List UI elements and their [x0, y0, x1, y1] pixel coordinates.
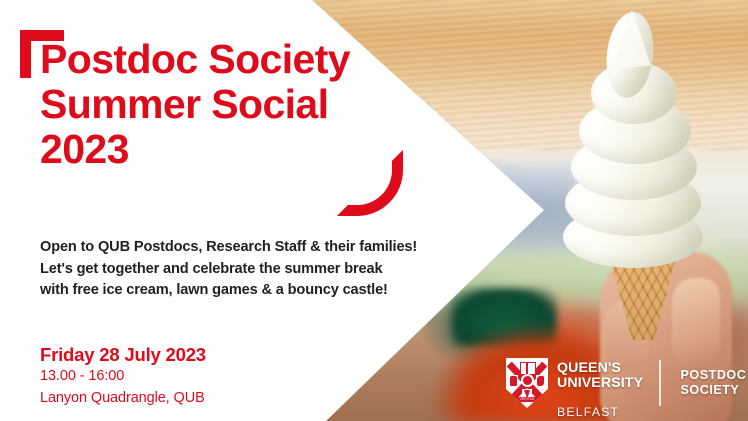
swoosh-arc-icon — [337, 150, 403, 216]
page-title: Postdoc Society Summer Social 2023 — [40, 37, 350, 172]
event-date: Friday 28 July 2023 — [40, 344, 206, 366]
crest-motto: VERITAS — [513, 397, 541, 402]
event-time: 13.00 - 16:00 — [40, 368, 124, 384]
event-description: Open to QUB Postdocs, Research Staff & t… — [40, 237, 417, 302]
event-location: Lanyon Quadrangle, QUB — [40, 390, 205, 406]
crest-red-hand-icon — [509, 375, 518, 387]
university-name: QUEEN'S UNIVERSITY — [557, 360, 643, 391]
society-wordmark: POSTDOC SOCIETY — [681, 368, 747, 398]
qub-crest-icon: VERITAS — [506, 358, 548, 408]
logo-lockup: VERITAS QUEEN'S UNIVERSITY BELFAST POSTD… — [506, 356, 746, 410]
logo-divider — [659, 360, 660, 406]
poster-canvas: Postdoc Society Summer Social 2023 Open … — [0, 0, 748, 421]
poster-content: Postdoc Society Summer Social 2023 Open … — [0, 0, 748, 421]
university-city: BELFAST — [557, 405, 619, 419]
university-wordmark: QUEEN'S UNIVERSITY BELFAST — [557, 347, 643, 420]
crest-rose-icon — [521, 374, 534, 387]
crest-seahorse-icon — [536, 375, 545, 387]
